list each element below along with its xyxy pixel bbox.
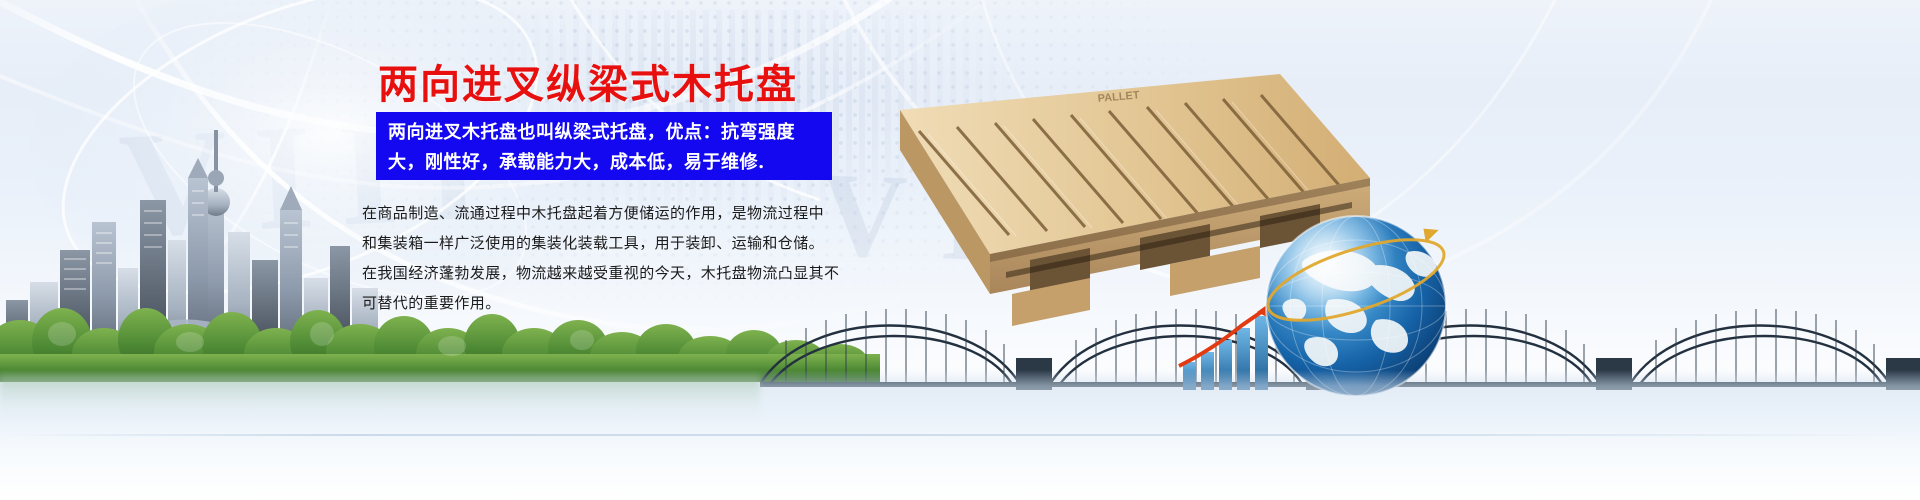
description-line-1: 在商品制造、流通过程中木托盘起着方便储运的作用，是物流过程中 (362, 198, 842, 228)
highlight-line-1: 两向进叉木托盘也叫纵梁式托盘，优点：抗弯强度 (388, 118, 822, 148)
highlight-line-2: 大，刚性好，承载能力大，成本低，易于维修. (388, 148, 822, 178)
description-paragraphs: 在商品制造、流通过程中木托盘起着方便储运的作用，是物流过程中 和集装箱一样广泛使… (362, 198, 842, 318)
description-line-2: 和集装箱一样广泛使用的集装化装载工具，用于装卸、运输和仓储。 (362, 228, 842, 258)
description-line-4: 可替代的重要作用。 (362, 288, 842, 318)
description-line-3: 在我国经济蓬勃发展，物流越来越受重视的今天，木托盘物流凸显其不 (362, 258, 842, 288)
water-horizon-line (0, 434, 1920, 436)
page-title: 两向进叉纵梁式木托盘 (378, 52, 798, 110)
highlight-callout-box: 两向进叉木托盘也叫纵梁式托盘，优点：抗弯强度 大，刚性好，承载能力大，成本低，易… (376, 112, 832, 180)
product-banner: VIII VII (0, 0, 1920, 500)
